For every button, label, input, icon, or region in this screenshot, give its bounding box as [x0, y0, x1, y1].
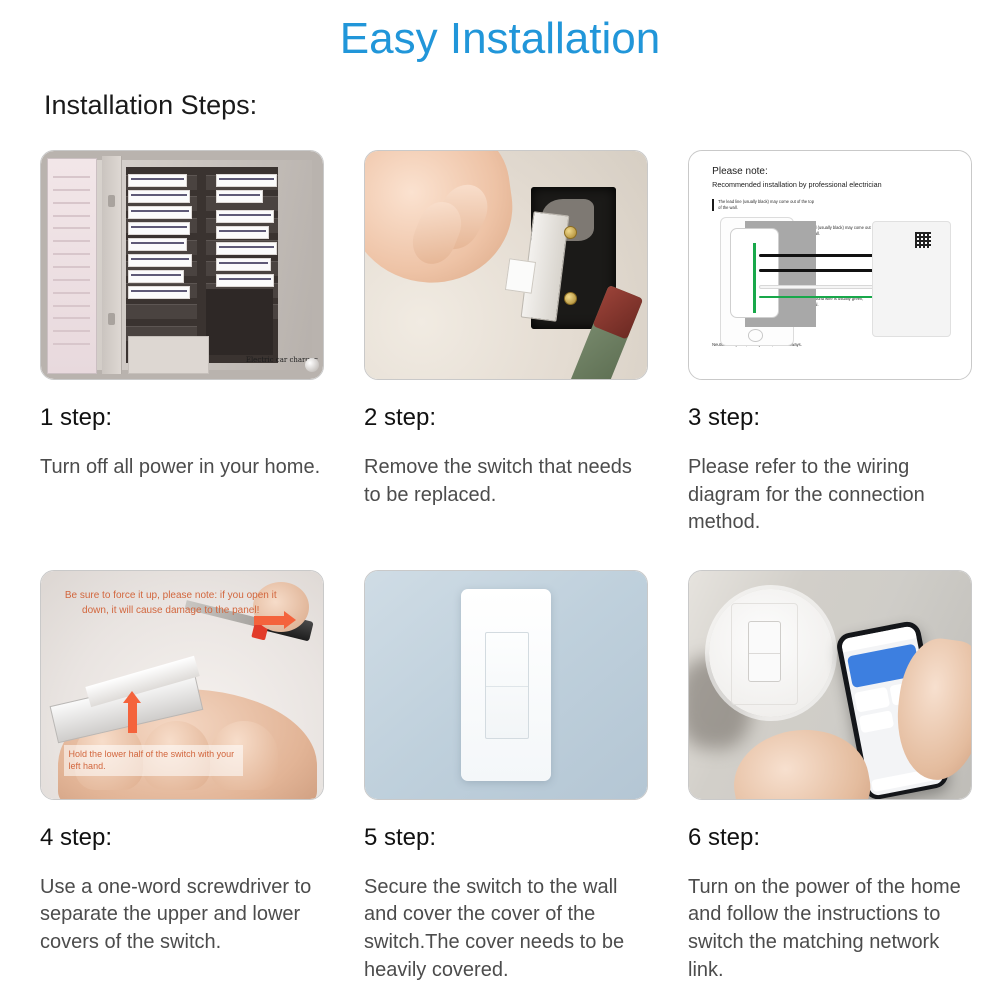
step-image-card-5 [364, 570, 648, 800]
panel-latch-screw [305, 358, 319, 372]
wire-ground-green [759, 296, 891, 299]
section-subtitle: Installation Steps: [44, 90, 257, 121]
step-caption-6: Turn on the power of the home and follow… [688, 874, 970, 984]
diagram-sheet: Please note: Recommended installation by… [693, 155, 967, 375]
diagram-new-switch-device [872, 221, 951, 337]
removing-old-switch-photo [365, 151, 647, 379]
diagram-heading: Please note: [712, 166, 768, 177]
step-cell-6: 6 step: Turn on the power of the home an… [688, 570, 970, 984]
step-cell-3: Please note: Recommended installation by… [688, 150, 970, 537]
step-caption-3: Please refer to the wiring diagram for t… [688, 454, 970, 537]
step-number-4: 4 step: [40, 824, 322, 852]
step-number-3: 3 step: [688, 404, 970, 432]
installation-infographic: Easy Installation Installation Steps: [0, 0, 1000, 1000]
panel-directory-sheet [47, 158, 97, 374]
step-image-card-2 [364, 150, 648, 380]
step-image-card-1: Electric car charger [40, 150, 324, 380]
screwdriver-pry-photo: Be sure to force it up, please note: if … [41, 571, 323, 799]
step-cell-2: 2 step: Remove the switch that needs to … [364, 150, 646, 537]
diagram-ground-bar [753, 243, 756, 313]
steps-row-top: Electric car charger 1 step: Turn off al… [40, 150, 970, 537]
switch-mounting-tab [505, 259, 537, 294]
step-number-2: 2 step: [364, 404, 646, 432]
callout-lead-line: The lead line (usually black) may come o… [712, 199, 814, 211]
arrow-up-icon [128, 703, 137, 733]
switch-terminal-screw-top [564, 226, 577, 239]
wire-load-black [759, 269, 891, 272]
switch-rocker-paddle [485, 632, 529, 739]
step-number-6: 6 step: [688, 824, 970, 852]
step-number-5: 5 step: [364, 824, 646, 852]
steps-grid: Electric car charger 1 step: Turn off al… [40, 150, 970, 984]
panel-blank-cover [128, 336, 209, 374]
step-cell-4: Be sure to force it up, please note: if … [40, 570, 322, 984]
step-number-1: 1 step: [40, 404, 322, 432]
qr-code-icon [915, 232, 931, 248]
breaker-panel-photo: Electric car charger [41, 151, 323, 379]
wiring-diagram: Please note: Recommended installation by… [689, 151, 971, 379]
hint-text: Hold the lower half of the switch with y… [64, 745, 243, 776]
step-image-card-3: Please note: Recommended installation by… [688, 150, 972, 380]
step-cell-5: 5 step: Secure the switch to the wall an… [364, 570, 646, 984]
diagram-switch-screw-hole [748, 329, 764, 342]
step-caption-1: Turn off all power in your home. [40, 454, 322, 482]
step-image-card-4: Be sure to force it up, please note: if … [40, 570, 324, 800]
page-title: Easy Installation [0, 14, 1000, 64]
wire-line-black [759, 254, 891, 257]
step-caption-5: Secure the switch to the wall and cover … [364, 874, 646, 984]
main-breaker [206, 289, 273, 356]
step-caption-4: Use a one-word screwdriver to separate t… [40, 874, 322, 957]
mounted-switch-photo [365, 571, 647, 799]
app-tile-3 [858, 709, 894, 733]
steps-row-bottom: Be sure to force it up, please note: if … [40, 570, 970, 984]
step-caption-2: Remove the switch that needs to be repla… [364, 454, 646, 509]
panel-door-hinge [102, 156, 123, 375]
diagram-subheading: Recommended installation by professional… [712, 180, 881, 189]
switch-rocker-inset [748, 621, 781, 682]
phone-app-photo [689, 571, 971, 799]
app-tile-1 [854, 686, 890, 713]
step-cell-1: Electric car charger 1 step: Turn off al… [40, 150, 322, 537]
switch-terminal-screw-bottom [564, 292, 577, 305]
step-image-card-6 [688, 570, 972, 800]
warning-text: Be sure to force it up, please note: if … [61, 589, 281, 618]
